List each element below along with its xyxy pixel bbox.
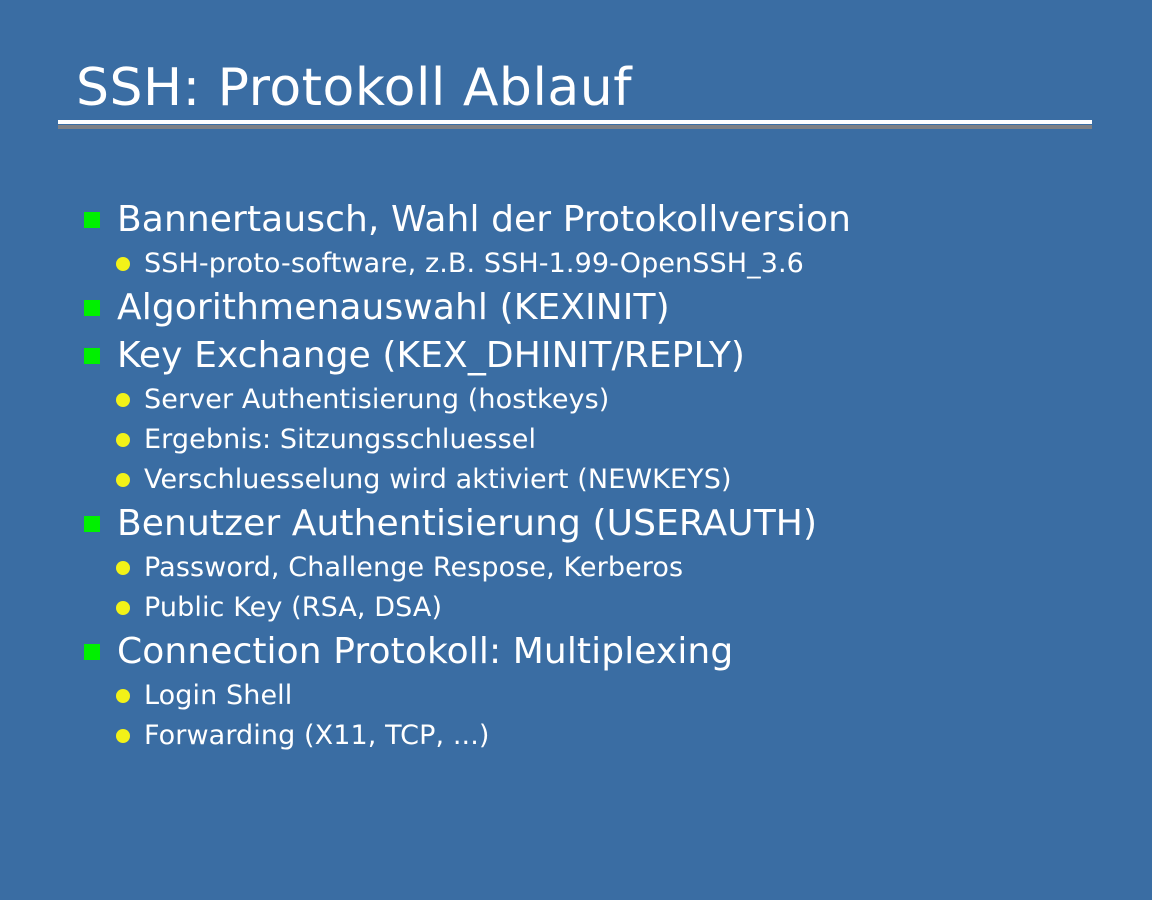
outline-item-level-2: Password, Challenge Respose, Kerberos (84, 548, 1124, 588)
bullet-container (116, 380, 144, 420)
bullet-container (84, 500, 117, 548)
outline-item-text: Login Shell (144, 676, 292, 716)
outline-item-text: Public Key (RSA, DSA) (144, 588, 442, 628)
outline-item-level-2: Verschluesselung wird aktiviert (NEWKEYS… (84, 460, 1124, 500)
yellow-dot-bullet (116, 393, 130, 407)
yellow-dot-bullet (116, 473, 130, 487)
outline-item-text: Connection Protokoll: Multiplexing (117, 628, 733, 676)
yellow-dot-bullet (116, 729, 130, 743)
outline-item-text: Forwarding (X11, TCP, ...) (144, 716, 490, 756)
outline-item-level-1: Connection Protokoll: Multiplexing (84, 628, 1124, 676)
outline-item-level-1: Key Exchange (KEX_DHINIT/REPLY) (84, 332, 1124, 380)
page-title: SSH: Protokoll Ablauf (58, 58, 1092, 118)
outline-item-level-1: Bannertausch, Wahl der Protokollversion (84, 196, 1124, 244)
outline-item-level-2: Server Authentisierung (hostkeys) (84, 380, 1124, 420)
outline-item-text: Key Exchange (KEX_DHINIT/REPLY) (117, 332, 745, 380)
slide-title-block: SSH: Protokoll Ablauf (58, 58, 1092, 124)
outline-item-text: Benutzer Authentisierung (USERAUTH) (117, 500, 817, 548)
outline-item-level-2: Ergebnis: Sitzungsschluessel (84, 420, 1124, 460)
yellow-dot-bullet (116, 601, 130, 615)
outline-item-level-2: Public Key (RSA, DSA) (84, 588, 1124, 628)
green-square-bullet (84, 212, 100, 228)
bullet-container (116, 460, 144, 500)
outline-item-text: Server Authentisierung (hostkeys) (144, 380, 609, 420)
outline-item-level-2: SSH-proto-software, z.B. SSH-1.99-OpenSS… (84, 244, 1124, 284)
bullet-container (84, 284, 117, 332)
outline-item-text: Bannertausch, Wahl der Protokollversion (117, 196, 851, 244)
outline-item-level-2: Forwarding (X11, TCP, ...) (84, 716, 1124, 756)
green-square-bullet (84, 300, 100, 316)
bullet-container (116, 244, 144, 284)
bullet-container (116, 676, 144, 716)
outline-item-level-2: Login Shell (84, 676, 1124, 716)
bullet-container (84, 196, 117, 244)
outline-item-text: Ergebnis: Sitzungsschluessel (144, 420, 536, 460)
outline-item-text: Password, Challenge Respose, Kerberos (144, 548, 683, 588)
outline-item-level-1: Algorithmenauswahl (KEXINIT) (84, 284, 1124, 332)
bullet-container (116, 588, 144, 628)
bullet-container (116, 716, 144, 756)
yellow-dot-bullet (116, 257, 130, 271)
presentation-slide: SSH: Protokoll Ablauf Bannertausch, Wahl… (0, 0, 1152, 900)
green-square-bullet (84, 644, 100, 660)
outline-item-level-1: Benutzer Authentisierung (USERAUTH) (84, 500, 1124, 548)
yellow-dot-bullet (116, 561, 130, 575)
outline-item-text: Algorithmenauswahl (KEXINIT) (117, 284, 670, 332)
bullet-container (84, 628, 117, 676)
bullet-container (116, 548, 144, 588)
slide-body-outline: Bannertausch, Wahl der ProtokollversionS… (84, 196, 1124, 756)
yellow-dot-bullet (116, 689, 130, 703)
green-square-bullet (84, 348, 100, 364)
bullet-container (116, 420, 144, 460)
bullet-container (84, 332, 117, 380)
outline-item-text: SSH-proto-software, z.B. SSH-1.99-OpenSS… (144, 244, 804, 284)
title-underline-rule (58, 120, 1092, 124)
outline-item-text: Verschluesselung wird aktiviert (NEWKEYS… (144, 460, 732, 500)
yellow-dot-bullet (116, 433, 130, 447)
green-square-bullet (84, 516, 100, 532)
